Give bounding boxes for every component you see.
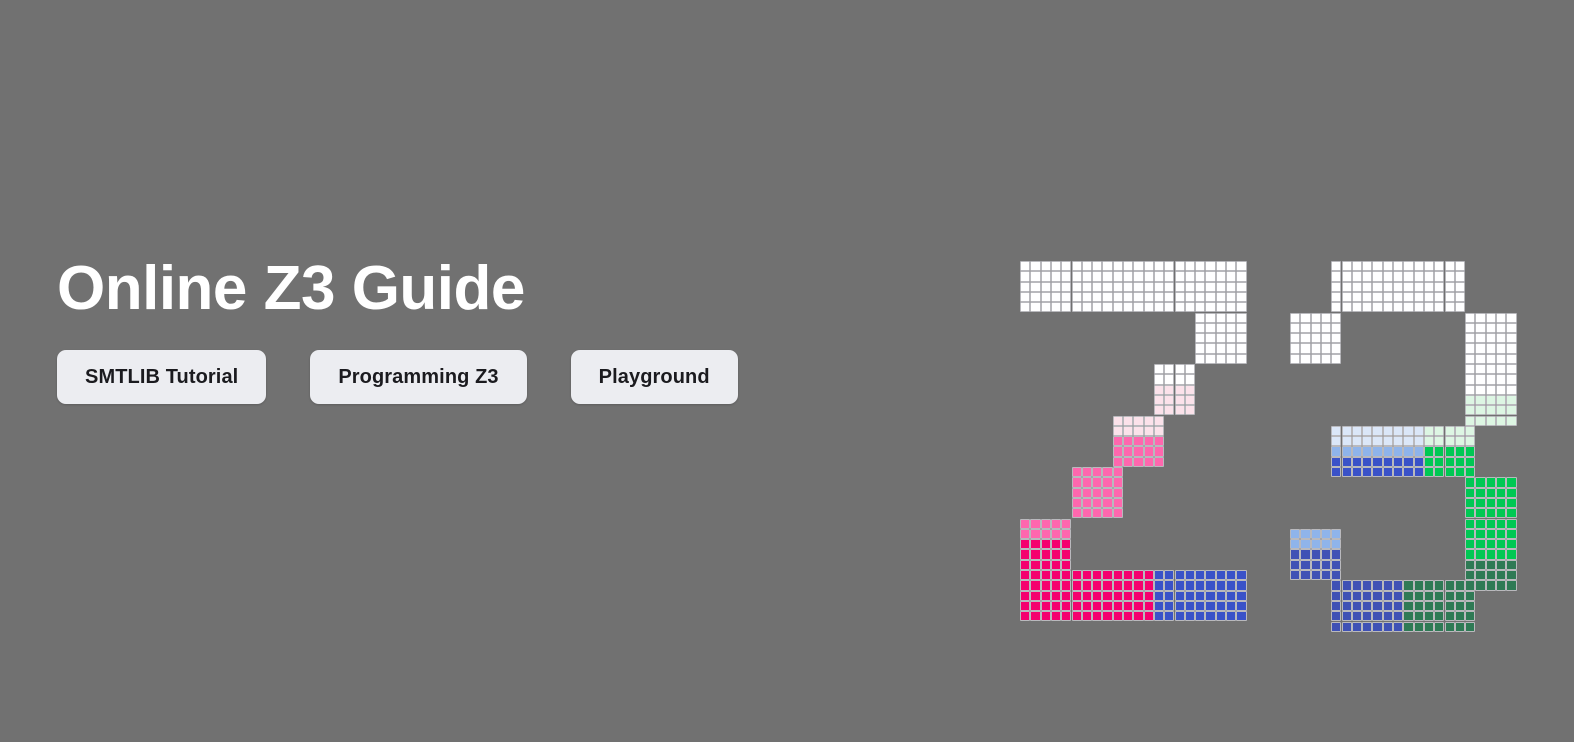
logo-pixel-cell [1195, 601, 1205, 611]
logo-pixel-cell [1424, 611, 1434, 621]
logo-pixel-cell [1362, 591, 1372, 601]
logo-pixel-cell [1102, 498, 1112, 508]
logo-pixel-cell [1496, 560, 1506, 570]
logo-pixel-cell [1164, 591, 1174, 601]
logo-pixel-cell [1372, 601, 1382, 611]
logo-pixel-cell [1496, 313, 1506, 323]
logo-pixel-cell [1352, 426, 1362, 436]
logo-pixel-cell [1195, 591, 1205, 601]
logo-pixel-cell [1342, 580, 1352, 590]
logo-pixel-cell [1102, 488, 1112, 498]
logo-pixel-cell [1331, 580, 1341, 590]
logo-pixel-cell [1123, 601, 1133, 611]
logo-pixel-cell [1393, 446, 1403, 456]
playground-button[interactable]: Playground [571, 350, 738, 404]
logo-pixel-cell [1506, 416, 1516, 426]
logo-pixel-cell [1434, 436, 1444, 446]
logo-pixel-cell [1342, 271, 1352, 281]
logo-pixel-cell [1465, 580, 1475, 590]
logo-pixel-cell [1195, 323, 1205, 333]
logo-pixel-cell [1123, 426, 1133, 436]
logo-pixel-cell [1506, 549, 1516, 559]
logo-pixel-cell [1486, 529, 1496, 539]
logo-pixel-cell [1414, 601, 1424, 611]
logo-pixel-cell [1144, 282, 1154, 292]
logo-pixel-cell [1496, 416, 1506, 426]
logo-pixel-cell [1175, 271, 1185, 281]
logo-pixel-cell [1133, 292, 1143, 302]
logo-pixel-cell [1352, 436, 1362, 446]
logo-pixel-cell [1475, 374, 1485, 384]
logo-pixel-cell [1123, 302, 1133, 312]
logo-pixel-cell [1403, 622, 1413, 632]
logo-pixel-cell [1475, 539, 1485, 549]
logo-pixel-cell [1331, 457, 1341, 467]
logo-pixel-cell [1164, 395, 1174, 405]
logo-pixel-cell [1445, 580, 1455, 590]
logo-pixel-cell [1133, 436, 1143, 446]
logo-pixel-cell [1216, 292, 1226, 302]
logo-pixel-cell [1434, 467, 1444, 477]
logo-pixel-cell [1051, 611, 1061, 621]
logo-pixel-cell [1185, 261, 1195, 271]
logo-pixel-cell [1154, 302, 1164, 312]
logo-pixel-cell [1185, 385, 1195, 395]
logo-pixel-cell [1102, 292, 1112, 302]
logo-pixel-cell [1133, 271, 1143, 281]
logo-pixel-cell [1486, 488, 1496, 498]
logo-pixel-cell [1331, 292, 1341, 302]
logo-pixel-cell [1236, 343, 1246, 353]
logo-pixel-cell [1331, 282, 1341, 292]
logo-pixel-cell [1061, 570, 1071, 580]
logo-pixel-cell [1434, 261, 1444, 271]
logo-pixel-cell [1082, 570, 1092, 580]
logo-pixel-cell [1185, 282, 1195, 292]
logo-pixel-cell [1331, 622, 1341, 632]
logo-pixel-cell [1455, 601, 1465, 611]
logo-pixel-cell [1506, 395, 1516, 405]
logo-pixel-cell [1175, 385, 1185, 395]
logo-pixel-cell [1020, 271, 1030, 281]
logo-pixel-cell [1445, 292, 1455, 302]
logo-pixel-cell [1092, 508, 1102, 518]
logo-pixel-cell [1311, 560, 1321, 570]
logo-pixel-cell [1414, 457, 1424, 467]
logo-pixel-cell [1372, 292, 1382, 302]
logo-pixel-cell [1424, 622, 1434, 632]
logo-pixel-cell [1455, 261, 1465, 271]
logo-pixel-cell [1506, 570, 1516, 580]
logo-pixel-cell [1383, 457, 1393, 467]
logo-pixel-cell [1383, 580, 1393, 590]
logo-pixel-cell [1372, 622, 1382, 632]
logo-pixel-cell [1342, 292, 1352, 302]
logo-pixel-cell [1424, 261, 1434, 271]
logo-pixel-cell [1102, 282, 1112, 292]
logo-pixel-cell [1102, 477, 1112, 487]
logo-pixel-cell [1414, 271, 1424, 281]
logo-pixel-cell [1372, 467, 1382, 477]
logo-pixel-cell [1393, 457, 1403, 467]
logo-pixel-cell [1236, 611, 1246, 621]
logo-pixel-cell [1102, 591, 1112, 601]
logo-pixel-cell [1383, 446, 1393, 456]
logo-pixel-cell [1030, 539, 1040, 549]
logo-pixel-cell [1205, 343, 1215, 353]
logo-pixel-cell [1236, 282, 1246, 292]
logo-pixel-cell [1383, 467, 1393, 477]
logo-pixel-cell [1424, 591, 1434, 601]
logo-pixel-cell [1030, 271, 1040, 281]
logo-pixel-cell [1465, 549, 1475, 559]
logo-pixel-cell [1113, 261, 1123, 271]
logo-pixel-cell [1290, 323, 1300, 333]
programming-z3-button[interactable]: Programming Z3 [310, 350, 526, 404]
logo-pixel-cell [1496, 385, 1506, 395]
logo-pixel-cell [1331, 271, 1341, 281]
logo-pixel-cell [1372, 261, 1382, 271]
logo-pixel-cell [1321, 560, 1331, 570]
logo-pixel-cell [1020, 539, 1030, 549]
logo-pixel-cell [1331, 539, 1341, 549]
logo-pixel-cell [1144, 570, 1154, 580]
logo-pixel-cell [1331, 354, 1341, 364]
logo-pixel-cell [1403, 591, 1413, 601]
logo-pixel-cell [1072, 601, 1082, 611]
logo-pixel-cell [1496, 343, 1506, 353]
logo-pixel-cell [1051, 601, 1061, 611]
logo-pixel-cell [1352, 611, 1362, 621]
logo-pixel-cell [1092, 580, 1102, 590]
logo-pixel-cell [1185, 580, 1195, 590]
logo-pixel-cell [1102, 508, 1112, 518]
logo-pixel-cell [1465, 323, 1475, 333]
logo-pixel-cell [1092, 570, 1102, 580]
logo-pixel-cell [1475, 488, 1485, 498]
logo-pixel-cell [1195, 302, 1205, 312]
logo-pixel-cell [1154, 457, 1164, 467]
logo-pixel-cell [1475, 549, 1485, 559]
logo-pixel-cell [1072, 292, 1082, 302]
logo-pixel-cell [1506, 354, 1516, 364]
logo-pixel-cell [1061, 539, 1071, 549]
logo-pixel-cell [1164, 302, 1174, 312]
logo-pixel-cell [1352, 282, 1362, 292]
logo-pixel-cell [1465, 560, 1475, 570]
logo-pixel-cell [1020, 601, 1030, 611]
logo-pixel-cell [1082, 271, 1092, 281]
logo-pixel-cell [1455, 467, 1465, 477]
logo-pixel-cell [1455, 580, 1465, 590]
logo-pixel-cell [1455, 426, 1465, 436]
logo-pixel-cell [1475, 354, 1485, 364]
logo-pixel-cell [1290, 549, 1300, 559]
logo-pixel-cell [1072, 271, 1082, 281]
logo-pixel-cell [1175, 580, 1185, 590]
logo-pixel-cell [1506, 488, 1516, 498]
logo-pixel-cell [1113, 570, 1123, 580]
logo-pixel-cell [1154, 364, 1164, 374]
logo-pixel-cell [1465, 405, 1475, 415]
logo-pixel-cell [1465, 333, 1475, 343]
logo-pixel-cell [1300, 539, 1310, 549]
logo-pixel-cell [1424, 457, 1434, 467]
logo-pixel-cell [1506, 313, 1516, 323]
logo-pixel-cell [1342, 591, 1352, 601]
logo-pixel-cell [1195, 611, 1205, 621]
logo-pixel-cell [1226, 313, 1236, 323]
logo-pixel-cell [1164, 570, 1174, 580]
logo-pixel-cell [1300, 560, 1310, 570]
logo-pixel-cell [1506, 333, 1516, 343]
logo-pixel-cell [1236, 323, 1246, 333]
logo-pixel-cell [1445, 457, 1455, 467]
logo-pixel-cell [1185, 570, 1195, 580]
logo-pixel-cell [1414, 591, 1424, 601]
logo-pixel-cell [1383, 622, 1393, 632]
logo-pixel-cell [1403, 426, 1413, 436]
logo-pixel-cell [1311, 570, 1321, 580]
logo-pixel-cell [1414, 622, 1424, 632]
logo-pixel-cell [1414, 446, 1424, 456]
logo-pixel-cell [1092, 292, 1102, 302]
z3-logo-artwork [1020, 261, 1520, 591]
logo-pixel-cell [1434, 446, 1444, 456]
logo-pixel-cell [1362, 426, 1372, 436]
logo-pixel-cell [1051, 549, 1061, 559]
logo-pixel-cell [1072, 508, 1082, 518]
logo-pixel-cell [1041, 560, 1051, 570]
logo-pixel-cell [1072, 611, 1082, 621]
logo-pixel-cell [1403, 601, 1413, 611]
logo-pixel-cell [1133, 446, 1143, 456]
logo-pixel-cell [1486, 570, 1496, 580]
logo-pixel-cell [1506, 323, 1516, 333]
logo-pixel-cell [1352, 591, 1362, 601]
logo-pixel-cell [1331, 467, 1341, 477]
logo-pixel-cell [1123, 282, 1133, 292]
logo-pixel-cell [1216, 580, 1226, 590]
logo-pixel-cell [1352, 457, 1362, 467]
logo-pixel-cell [1331, 333, 1341, 343]
logo-pixel-cell [1465, 539, 1475, 549]
logo-pixel-cell [1486, 508, 1496, 518]
logo-pixel-cell [1175, 364, 1185, 374]
logo-pixel-cell [1195, 261, 1205, 271]
logo-pixel-cell [1154, 282, 1164, 292]
logo-pixel-cell [1113, 591, 1123, 601]
logo-pixel-cell [1205, 591, 1215, 601]
logo-pixel-cell [1061, 302, 1071, 312]
logo-pixel-cell [1133, 457, 1143, 467]
logo-pixel-cell [1205, 302, 1215, 312]
logo-pixel-cell [1496, 405, 1506, 415]
logo-pixel-cell [1362, 261, 1372, 271]
logo-pixel-cell [1072, 261, 1082, 271]
logo-pixel-cell [1020, 570, 1030, 580]
logo-pixel-cell [1486, 539, 1496, 549]
logo-pixel-cell [1475, 477, 1485, 487]
logo-pixel-cell [1321, 549, 1331, 559]
logo-pixel-cell [1123, 271, 1133, 281]
logo-pixel-cell [1051, 591, 1061, 601]
logo-pixel-cell [1175, 570, 1185, 580]
logo-pixel-cell [1403, 292, 1413, 302]
logo-pixel-cell [1393, 601, 1403, 611]
logo-pixel-cell [1465, 374, 1475, 384]
logo-pixel-cell [1020, 282, 1030, 292]
logo-pixel-cell [1226, 323, 1236, 333]
logo-pixel-cell [1102, 302, 1112, 312]
logo-pixel-cell [1383, 436, 1393, 446]
logo-pixel-cell [1164, 601, 1174, 611]
logo-pixel-cell [1393, 271, 1403, 281]
logo-pixel-cell [1072, 302, 1082, 312]
logo-pixel-cell [1216, 343, 1226, 353]
logo-pixel-cell [1362, 611, 1372, 621]
logo-pixel-cell [1123, 436, 1133, 446]
logo-pixel-cell [1455, 446, 1465, 456]
logo-pixel-cell [1362, 580, 1372, 590]
logo-pixel-cell [1486, 364, 1496, 374]
logo-pixel-cell [1506, 385, 1516, 395]
logo-pixel-cell [1311, 343, 1321, 353]
logo-pixel-cell [1123, 591, 1133, 601]
logo-pixel-cell [1445, 467, 1455, 477]
logo-pixel-cell [1383, 591, 1393, 601]
logo-pixel-cell [1041, 282, 1051, 292]
logo-pixel-cell [1164, 282, 1174, 292]
logo-pixel-cell [1113, 457, 1123, 467]
logo-pixel-cell [1072, 498, 1082, 508]
logo-pixel-cell [1383, 601, 1393, 611]
logo-pixel-cell [1030, 292, 1040, 302]
logo-pixel-cell [1342, 282, 1352, 292]
logo-pixel-cell [1205, 313, 1215, 323]
logo-pixel-cell [1041, 591, 1051, 601]
logo-pixel-cell [1205, 570, 1215, 580]
logo-pixel-cell [1154, 261, 1164, 271]
logo-pixel-cell [1393, 622, 1403, 632]
logo-pixel-cell [1226, 354, 1236, 364]
logo-pixel-cell [1113, 580, 1123, 590]
logo-pixel-cell [1051, 292, 1061, 302]
logo-pixel-cell [1236, 570, 1246, 580]
logo-pixel-cell [1342, 436, 1352, 446]
logo-pixel-cell [1051, 282, 1061, 292]
logo-pixel-cell [1041, 261, 1051, 271]
logo-pixel-cell [1195, 333, 1205, 343]
logo-pixel-cell [1205, 271, 1215, 281]
logo-pixel-cell [1486, 405, 1496, 415]
logo-pixel-cell [1465, 529, 1475, 539]
logo-pixel-cell [1041, 601, 1051, 611]
logo-pixel-cell [1113, 498, 1123, 508]
logo-pixel-cell [1144, 416, 1154, 426]
logo-pixel-cell [1414, 467, 1424, 477]
logo-pixel-cell [1082, 282, 1092, 292]
logo-pixel-cell [1475, 323, 1485, 333]
logo-pixel-cell [1082, 477, 1092, 487]
logo-pixel-cell [1331, 302, 1341, 312]
logo-pixel-cell [1496, 395, 1506, 405]
logo-pixel-cell [1113, 508, 1123, 518]
logo-pixel-cell [1414, 302, 1424, 312]
logo-pixel-cell [1506, 374, 1516, 384]
logo-pixel-cell [1020, 580, 1030, 590]
logo-pixel-cell [1092, 302, 1102, 312]
logo-pixel-cell [1195, 354, 1205, 364]
logo-pixel-cell [1030, 549, 1040, 559]
logo-pixel-cell [1352, 622, 1362, 632]
logo-pixel-cell [1092, 601, 1102, 611]
logo-pixel-cell [1123, 292, 1133, 302]
logo-pixel-cell [1226, 343, 1236, 353]
logo-pixel-cell [1072, 467, 1082, 477]
logo-pixel-cell [1445, 591, 1455, 601]
logo-pixel-cell [1205, 611, 1215, 621]
logo-pixel-cell [1020, 302, 1030, 312]
logo-pixel-cell [1434, 282, 1444, 292]
logo-pixel-cell [1424, 467, 1434, 477]
logo-pixel-cell [1424, 292, 1434, 302]
logo-pixel-cell [1321, 539, 1331, 549]
logo-pixel-cell [1020, 292, 1030, 302]
logo-pixel-cell [1226, 271, 1236, 281]
logo-pixel-cell [1486, 580, 1496, 590]
logo-pixel-cell [1465, 436, 1475, 446]
logo-pixel-cell [1164, 271, 1174, 281]
logo-pixel-cell [1486, 333, 1496, 343]
logo-pixel-cell [1311, 333, 1321, 343]
logo-pixel-cell [1331, 446, 1341, 456]
logo-pixel-cell [1486, 385, 1496, 395]
logo-pixel-cell [1300, 343, 1310, 353]
logo-pixel-cell [1133, 261, 1143, 271]
logo-pixel-cell [1154, 611, 1164, 621]
logo-pixel-cell [1290, 529, 1300, 539]
logo-pixel-cell [1445, 436, 1455, 446]
logo-pixel-cell [1506, 364, 1516, 374]
logo-pixel-cell [1092, 282, 1102, 292]
logo-pixel-cell [1331, 560, 1341, 570]
logo-pixel-cell [1362, 622, 1372, 632]
logo-pixel-cell [1475, 364, 1485, 374]
logo-pixel-cell [1041, 271, 1051, 281]
logo-pixel-cell [1496, 580, 1506, 590]
logo-pixel-cell [1403, 467, 1413, 477]
logo-pixel-cell [1465, 457, 1475, 467]
logo-pixel-cell [1154, 570, 1164, 580]
logo-pixel-cell [1092, 611, 1102, 621]
logo-pixel-cell [1061, 601, 1071, 611]
logo-pixel-cell [1082, 601, 1092, 611]
logo-pixel-cell [1144, 261, 1154, 271]
logo-pixel-cell [1321, 354, 1331, 364]
logo-pixel-cell [1051, 302, 1061, 312]
logo-pixel-cell [1051, 580, 1061, 590]
smtlib-tutorial-button[interactable]: SMTLIB Tutorial [57, 350, 266, 404]
logo-pixel-cell [1164, 580, 1174, 590]
logo-pixel-cell [1113, 467, 1123, 477]
logo-pixel-cell [1236, 333, 1246, 343]
logo-pixel-cell [1226, 601, 1236, 611]
logo-pixel-cell [1486, 477, 1496, 487]
logo-pixel-cell [1195, 292, 1205, 302]
logo-pixel-cell [1414, 611, 1424, 621]
logo-pixel-cell [1226, 580, 1236, 590]
